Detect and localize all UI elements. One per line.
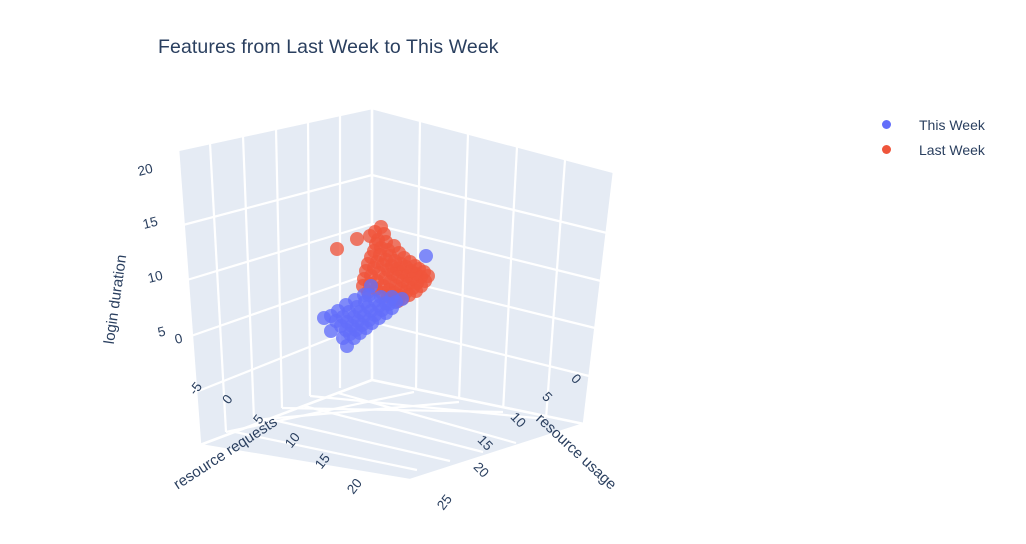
legend-marker-this-week bbox=[882, 120, 891, 129]
legend[interactable]: This Week Last Week bbox=[876, 112, 1016, 162]
scene-3d-plot[interactable]: 20 15 10 5 0 login duration -5 0 5 10 15… bbox=[0, 0, 1026, 544]
svg-text:20: 20 bbox=[136, 161, 154, 179]
plotly-figure[interactable]: Features from Last Week to This Week bbox=[0, 0, 1026, 544]
svg-text:login duration: login duration bbox=[101, 254, 130, 346]
svg-text:20: 20 bbox=[344, 476, 365, 497]
svg-text:20: 20 bbox=[471, 459, 492, 480]
legend-label-this-week: This Week bbox=[919, 117, 985, 133]
z-axis-ticks: 20 15 10 5 0 bbox=[136, 161, 184, 347]
legend-item-last-week[interactable]: Last Week bbox=[876, 137, 1016, 162]
svg-text:5: 5 bbox=[156, 324, 167, 340]
legend-marker-last-week bbox=[882, 145, 891, 154]
svg-text:0: 0 bbox=[173, 331, 184, 347]
svg-text:15: 15 bbox=[141, 214, 159, 232]
svg-text:10: 10 bbox=[146, 268, 164, 286]
svg-text:25: 25 bbox=[434, 492, 455, 513]
legend-label-last-week: Last Week bbox=[919, 142, 985, 158]
z-axis-title: login duration bbox=[101, 254, 130, 346]
legend-item-this-week[interactable]: This Week bbox=[876, 112, 1016, 137]
